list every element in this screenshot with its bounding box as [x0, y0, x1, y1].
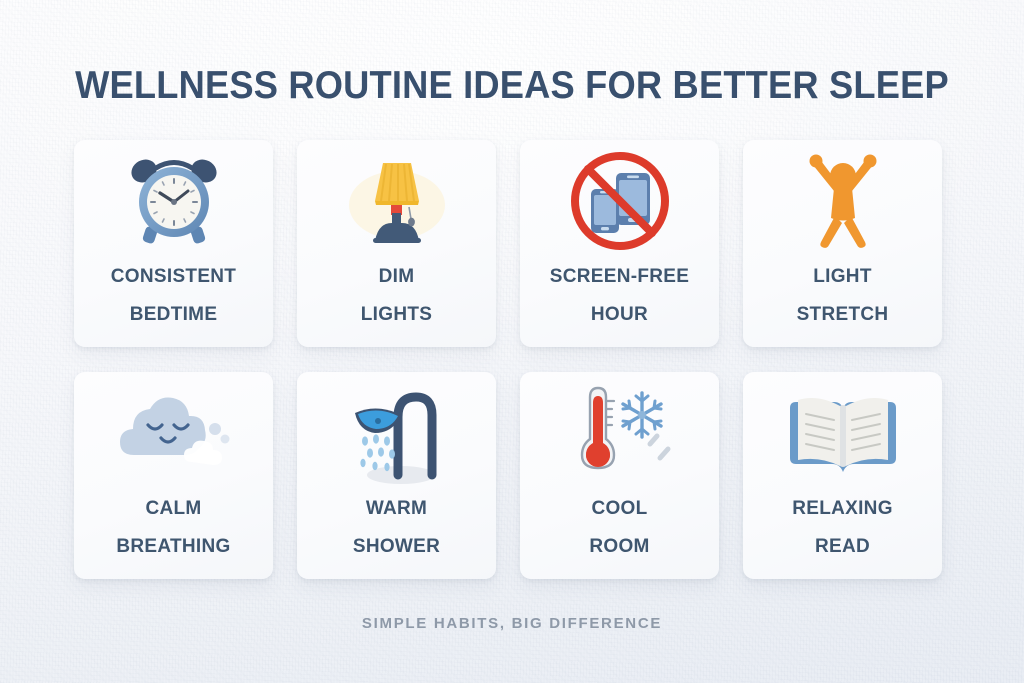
card-grid: CONSISTENT BEDTIME: [74, 140, 950, 579]
card-calm-breathing[interactable]: CALM BREATHING: [74, 372, 273, 579]
card-label: COOL ROOM: [589, 490, 649, 566]
card-screen-free-hour[interactable]: SCREEN-FREE HOUR: [520, 140, 719, 347]
page-title: WELLNESS ROUTINE IDEAS FOR BETTER SLEEP: [36, 64, 988, 108]
infographic-stage: WELLNESS ROUTINE IDEAS FOR BETTER SLEEP: [0, 0, 1024, 683]
card-label: CALM BREATHING: [116, 490, 230, 566]
table-lamp-icon: [297, 140, 496, 256]
card-relaxing-read[interactable]: RELAXING READ: [743, 372, 942, 579]
card-light-stretch[interactable]: LIGHT STRETCH: [743, 140, 942, 347]
footer-tagline: SIMPLE HABITS, BIG DIFFERENCE: [0, 615, 1024, 632]
card-cool-room[interactable]: COOL ROOM: [520, 372, 719, 579]
card-label: WARM SHOWER: [353, 490, 440, 566]
card-label: SCREEN-FREE HOUR: [550, 258, 689, 334]
card-dim-lights[interactable]: DIM LIGHTS: [297, 140, 496, 347]
card-label: LIGHT STRETCH: [797, 258, 889, 334]
card-label: RELAXING READ: [792, 490, 893, 566]
sleeping-cloud-icon: [74, 372, 273, 488]
thermometer-snowflake-icon: [520, 372, 719, 488]
alarm-clock-icon: [74, 140, 273, 256]
card-label: DIM LIGHTS: [361, 258, 432, 334]
card-warm-shower[interactable]: WARM SHOWER: [297, 372, 496, 579]
no-phones-icon: [520, 140, 719, 256]
card-consistent-bedtime[interactable]: CONSISTENT BEDTIME: [74, 140, 273, 347]
shower-head-icon: [297, 372, 496, 488]
card-label: CONSISTENT BEDTIME: [111, 258, 236, 334]
stretching-person-icon: [743, 140, 942, 256]
open-book-icon: [743, 372, 942, 488]
